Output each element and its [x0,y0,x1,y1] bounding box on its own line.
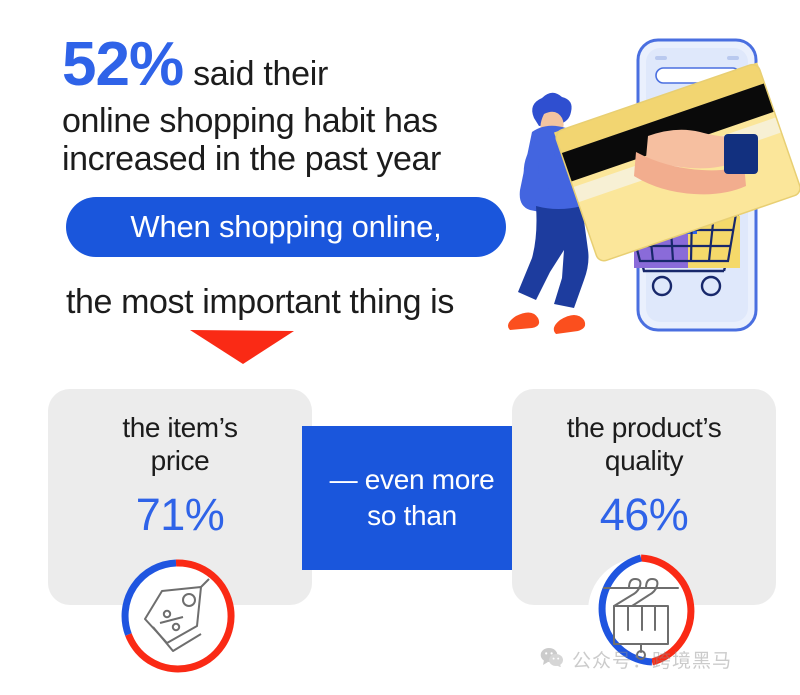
headline-line-3: increased in the past year [62,140,532,178]
headline-stat-suffix: said their [193,55,328,93]
subline-text: the most important thing is [66,283,454,322]
card-right-label-line1: the product’s [512,412,776,445]
wechat-icon [540,647,564,672]
headline-block: 52%said their online shopping habit has … [62,34,532,178]
card-right-label: the product’s quality [512,412,776,478]
shopping-illustration [498,18,800,373]
card-left-label-line1: the item’s [48,412,312,445]
midbox-line2: so than [330,498,495,534]
headline-line-2: online shopping habit has [62,102,532,140]
card-right-label-line2: quality [512,445,776,478]
card-left-label: the item’s price [48,412,312,478]
pill-label: When shopping online, [130,209,441,245]
when-shopping-online-pill: When shopping online, [66,197,506,257]
midbox-label: — even more so than [330,462,495,534]
hand-graphic [634,130,758,195]
card-left-label-line2: price [48,445,312,478]
watermark-text: 公众号：跨境黑马 [572,646,732,673]
midbox-line1: — even more [330,462,495,498]
headline-line-1: 52%said their [62,34,532,96]
card-left-value: 71% [48,489,312,541]
watermark: 公众号：跨境黑马 [540,646,732,673]
price-tag-badge [117,557,235,675]
infographic-canvas: 52%said their online shopping habit has … [0,0,800,695]
card-right-value: 46% [512,489,776,541]
even-more-so-than-box: — even more so than [302,426,522,570]
stat-52-percent: 52% [62,30,183,99]
red-down-arrow-icon [190,330,294,364]
